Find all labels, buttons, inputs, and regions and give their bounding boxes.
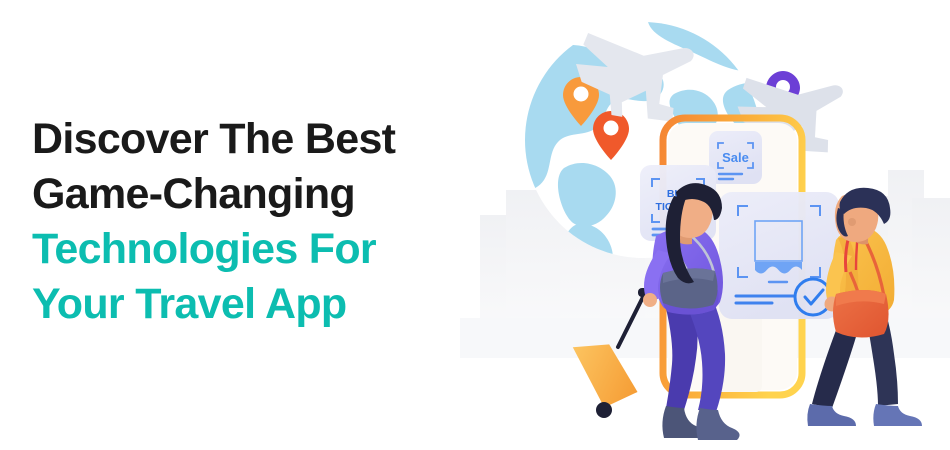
- man-ear: [848, 218, 856, 226]
- travel-app-banner: Discover The Best Game-Changing Technolo…: [0, 0, 950, 450]
- woman-hand: [643, 293, 657, 307]
- man-shoe-front: [873, 404, 922, 426]
- illustration: Sale BUY TICKETS: [460, 0, 950, 450]
- card-boarding-pass[interactable]: [719, 192, 839, 319]
- woman-shoe-front: [696, 408, 739, 440]
- suitcase-wheel: [596, 402, 612, 418]
- illustration-svg: Sale BUY TICKETS: [460, 0, 950, 450]
- headline-line-4: Your Travel App: [32, 277, 452, 332]
- headline-line-2: Game-Changing: [32, 167, 452, 222]
- man-shoe-back: [807, 404, 856, 426]
- headline-line-3: Technologies For: [32, 222, 452, 277]
- headline-line-1: Discover The Best: [32, 112, 452, 167]
- card-sale-label: Sale: [722, 150, 749, 165]
- headline-block: Discover The Best Game-Changing Technolo…: [32, 112, 452, 332]
- card-sale[interactable]: Sale: [709, 131, 762, 184]
